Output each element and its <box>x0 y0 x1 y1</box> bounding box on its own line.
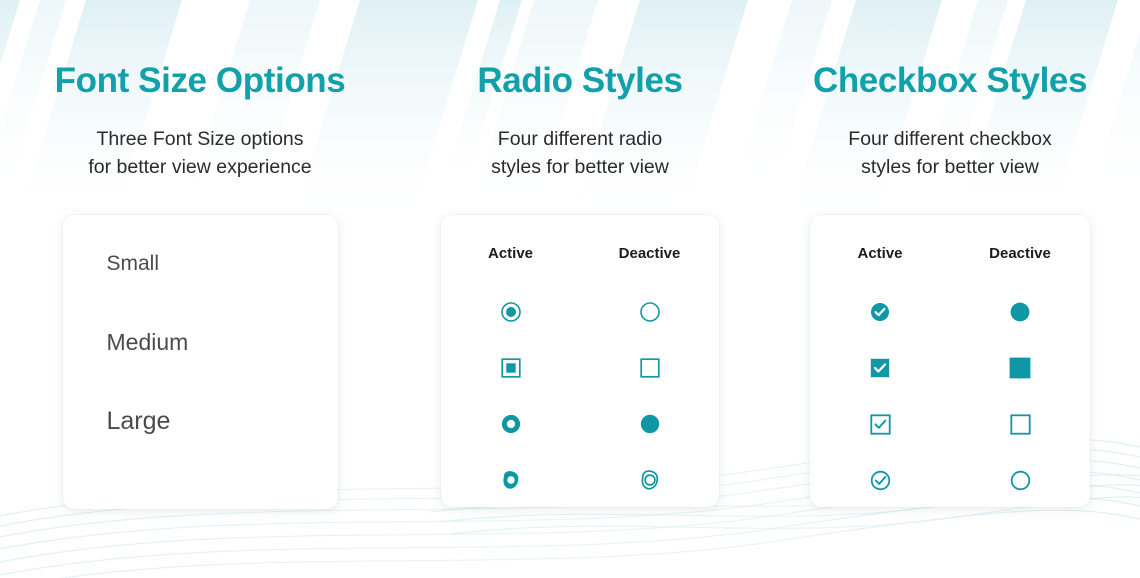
radio-styles-card: Active Deactive <box>441 215 719 507</box>
subtitle-radio-styles: Four different radio styles for better v… <box>491 125 669 183</box>
subtitle-checkbox-styles: Four different checkbox styles for bette… <box>848 125 1051 183</box>
square-outline-icon[interactable] <box>950 414 1090 435</box>
font-size-card: Small Medium Large <box>63 215 338 509</box>
checkbox-column-headers: Active Deactive <box>810 245 1090 262</box>
checkbox-row-3 <box>810 396 1090 452</box>
check-circle-filled-icon[interactable] <box>810 302 950 322</box>
checkbox-row-2 <box>810 340 1090 396</box>
radio-ring-filled-icon[interactable] <box>441 414 580 434</box>
radio-row-2 <box>441 340 719 396</box>
page-title-font-size: Font Size Options <box>55 62 346 101</box>
square-filled-icon[interactable] <box>950 357 1090 379</box>
column-radio-styles: Radio Styles Four different radio styles… <box>400 0 760 509</box>
page-title-checkbox-styles: Checkbox Styles <box>813 62 1087 101</box>
check-square-outline-icon[interactable] <box>810 414 950 435</box>
styles-showcase: Font Size Options Three Font Size option… <box>0 0 1140 578</box>
column-checkbox-styles: Checkbox Styles Four different checkbox … <box>760 0 1140 509</box>
checkbox-header-active: Active <box>810 245 950 262</box>
circle-filled-icon[interactable] <box>950 301 1090 323</box>
radio-header-active: Active <box>441 245 580 262</box>
column-font-size-options: Font Size Options Three Font Size option… <box>0 0 400 509</box>
radio-circle-outline-icon[interactable] <box>580 301 719 323</box>
radio-leaf-filled-icon[interactable] <box>441 468 580 492</box>
radio-circle-dot-icon[interactable] <box>441 301 580 323</box>
radio-row-3 <box>441 396 719 452</box>
checkbox-header-deactive: Deactive <box>950 245 1090 262</box>
checkbox-row-1 <box>810 284 1090 340</box>
font-option-small[interactable]: Small <box>107 253 338 274</box>
radio-leaf-outline-icon[interactable] <box>580 468 719 492</box>
radio-square-outline-icon[interactable] <box>580 357 719 379</box>
checkbox-styles-card: Active Deactive <box>810 215 1090 507</box>
check-square-filled-icon[interactable] <box>810 358 950 378</box>
checkbox-row-4 <box>810 452 1090 508</box>
radio-circle-filled-icon[interactable] <box>580 413 719 435</box>
font-option-large[interactable]: Large <box>107 409 338 434</box>
radio-square-dot-icon[interactable] <box>441 357 580 379</box>
check-circle-outline-icon[interactable] <box>810 470 950 491</box>
page-title-radio-styles: Radio Styles <box>477 62 682 101</box>
radio-row-4 <box>441 452 719 508</box>
circle-outline-icon[interactable] <box>950 470 1090 491</box>
font-option-medium[interactable]: Medium <box>107 331 338 354</box>
radio-column-headers: Active Deactive <box>441 245 719 262</box>
radio-header-deactive: Deactive <box>580 245 719 262</box>
radio-row-1 <box>441 284 719 340</box>
subtitle-font-size: Three Font Size options for better view … <box>88 125 311 183</box>
